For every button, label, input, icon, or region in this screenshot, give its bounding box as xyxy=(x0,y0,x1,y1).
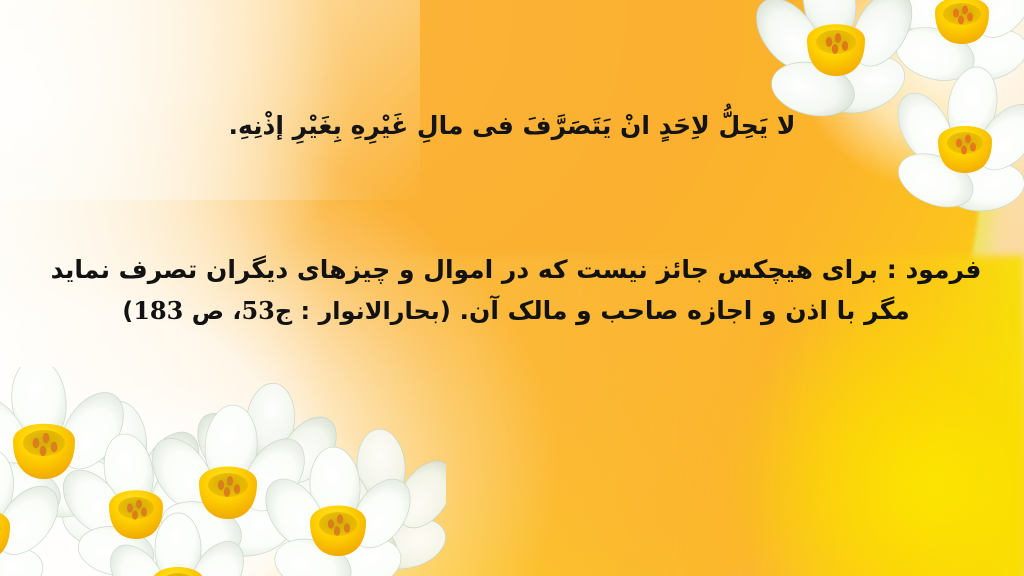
citation: (بحارالانوار : ج53، ص 183) xyxy=(122,297,451,325)
persian-translation-line-1: فرمود : برای هیچکس جائز نیست که در اموال… xyxy=(34,250,998,291)
citation-volume: 53 xyxy=(241,296,274,325)
citation-page: 183 xyxy=(133,296,183,325)
citation-source: (بحارالانوار : ج xyxy=(275,297,451,325)
persian-translation-text: مگر با اذن و اجازه صاحب و مالک آن. xyxy=(460,296,910,325)
citation-page-label: ، ص xyxy=(192,297,242,325)
arabic-hadith-text: لا يَحِلُّ لاِحَدٍ انْ يَتَصَرَّفَ فى ما… xyxy=(0,108,1024,144)
persian-translation-block: فرمود : برای هیچکس جائز نیست که در اموال… xyxy=(34,250,998,331)
persian-translation-line-2: مگر با اذن و اجازه صاحب و مالک آن. (بحار… xyxy=(34,291,998,332)
text-layer: لا يَحِلُّ لاِحَدٍ انْ يَتَصَرَّفَ فى ما… xyxy=(0,0,1024,576)
quote-card: لا يَحِلُّ لاِحَدٍ انْ يَتَصَرَّفَ فى ما… xyxy=(0,0,1024,576)
citation-close-paren: ) xyxy=(122,297,133,325)
